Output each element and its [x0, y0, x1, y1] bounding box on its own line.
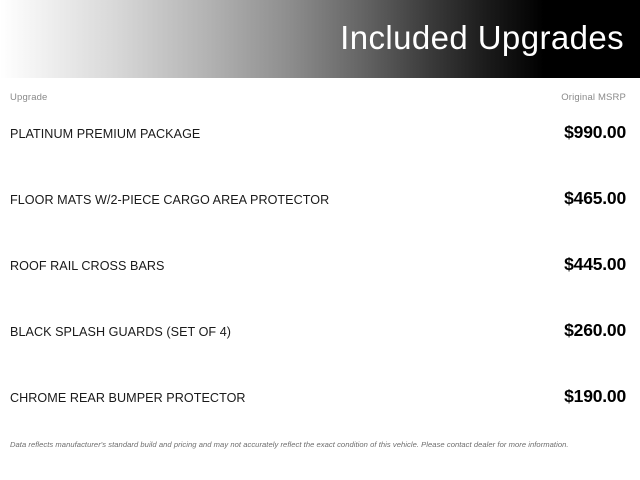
page-header-banner: Included Upgrades: [0, 0, 640, 78]
upgrade-price: $190.00: [564, 386, 626, 407]
upgrades-row-list: PLATINUM PREMIUM PACKAGE $990.00 FLOOR M…: [10, 122, 626, 452]
upgrade-price: $445.00: [564, 254, 626, 275]
table-row: FLOOR MATS W/2-PIECE CARGO AREA PROTECTO…: [10, 188, 626, 254]
upgrade-price: $990.00: [564, 122, 626, 143]
upgrade-name: BLACK SPLASH GUARDS (SET OF 4): [10, 325, 231, 339]
upgrade-name: FLOOR MATS W/2-PIECE CARGO AREA PROTECTO…: [10, 193, 329, 207]
upgrade-price: $260.00: [564, 320, 626, 341]
column-header-original-msrp: Original MSRP: [561, 92, 626, 103]
upgrade-name: PLATINUM PREMIUM PACKAGE: [10, 127, 200, 141]
page-title: Included Upgrades: [340, 21, 624, 58]
table-row: ROOF RAIL CROSS BARS $445.00: [10, 254, 626, 320]
upgrades-table: Upgrade Original MSRP PLATINUM PREMIUM P…: [0, 78, 640, 452]
upgrade-name: CHROME REAR BUMPER PROTECTOR: [10, 391, 246, 405]
upgrade-price: $465.00: [564, 188, 626, 209]
upgrade-name: ROOF RAIL CROSS BARS: [10, 259, 165, 273]
table-row: BLACK SPLASH GUARDS (SET OF 4) $260.00: [10, 320, 626, 386]
disclaimer-text: Data reflects manufacturer's standard bu…: [10, 440, 626, 450]
table-column-headers: Upgrade Original MSRP: [10, 78, 626, 114]
column-header-upgrade: Upgrade: [10, 92, 48, 103]
included-upgrades-panel: Included Upgrades Upgrade Original MSRP …: [0, 0, 640, 480]
table-row: PLATINUM PREMIUM PACKAGE $990.00: [10, 122, 626, 188]
